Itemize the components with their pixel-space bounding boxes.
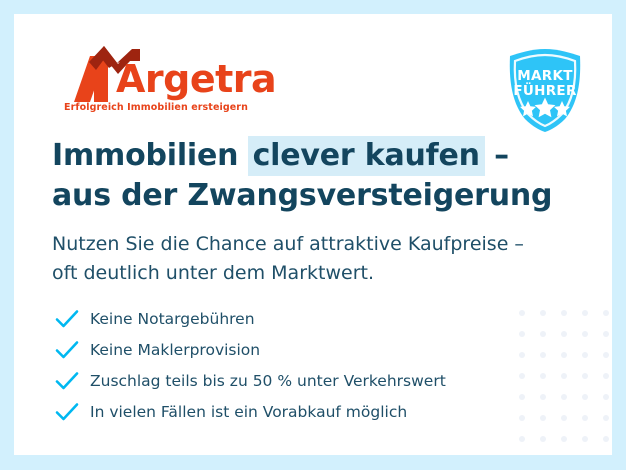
dot-grid-row [519,415,612,421]
dot [582,331,588,337]
subheadline-line-1: Nutzen Sie die Chance auf attraktive Kau… [52,230,592,259]
dot [561,436,567,442]
headline: Immobilien clever kaufen – aus der Zwang… [52,136,572,216]
benefit-label: Zuschlag teils bis zu 50 % unter Verkehr… [90,372,446,390]
check-icon [54,401,80,423]
dot [540,436,546,442]
subheadline: Nutzen Sie die Chance auf attraktive Kau… [52,230,592,288]
dot [582,310,588,316]
dot [561,331,567,337]
check-icon [54,339,80,361]
dot [603,415,609,421]
badge-line-2: FÜHRER [495,83,595,99]
dot [540,373,546,379]
benefit-item: In vielen Fällen ist ein Vorabkauf mögli… [54,397,524,427]
dot [582,394,588,400]
dot [540,331,546,337]
dot [540,310,546,316]
dot-grid-decoration [519,310,612,455]
dot-grid-row [519,436,612,442]
argetra-logo[interactable]: Argetra Erfolgreich Immobilien ersteiger… [60,44,260,124]
promo-card: Argetra Erfolgreich Immobilien ersteiger… [14,14,612,455]
check-icon [54,308,80,330]
dot [603,310,609,316]
headline-text-before: Immobilien [52,138,249,173]
dot [582,352,588,358]
headline-line-2: aus der Zwangsversteigerung [52,176,572,216]
dot-grid-row [519,331,612,337]
dot [603,373,609,379]
benefit-item: Keine Notargebühren [54,304,524,334]
dot [561,352,567,358]
dot [561,394,567,400]
benefit-label: Keine Maklerprovision [90,341,260,359]
benefit-label: Keine Notargebühren [90,310,255,328]
dot-grid-row [519,394,612,400]
dot-grid-row [519,310,612,316]
dot [603,394,609,400]
dot [603,331,609,337]
dot [540,415,546,421]
dot [540,394,546,400]
dot-grid-row [519,352,612,358]
dot [519,436,525,442]
headline-highlight: clever kaufen [248,136,485,176]
logo-wordmark: Argetra [116,60,276,98]
dot [582,436,588,442]
dot [603,352,609,358]
dot [582,415,588,421]
check-icon [54,370,80,392]
benefit-label: In vielen Fällen ist ein Vorabkauf mögli… [90,403,407,421]
dot [561,415,567,421]
benefits-list: Keine NotargebührenKeine Maklerprovision… [54,304,524,428]
benefit-item: Zuschlag teils bis zu 50 % unter Verkehr… [54,366,524,396]
market-leader-badge: MARKT FÜHRER [495,40,595,140]
dot [561,373,567,379]
dot-grid-row [519,373,612,379]
headline-text-after: – [484,138,509,173]
dot [582,373,588,379]
benefit-item: Keine Maklerprovision [54,335,524,365]
headline-line-1: Immobilien clever kaufen – [52,136,572,176]
logo-tagline: Erfolgreich Immobilien ersteigern [64,102,248,113]
dot [603,436,609,442]
subheadline-line-2: oft deutlich unter dem Marktwert. [52,259,592,288]
dot [540,352,546,358]
dot [561,310,567,316]
badge-line-1: MARKT [495,68,595,84]
